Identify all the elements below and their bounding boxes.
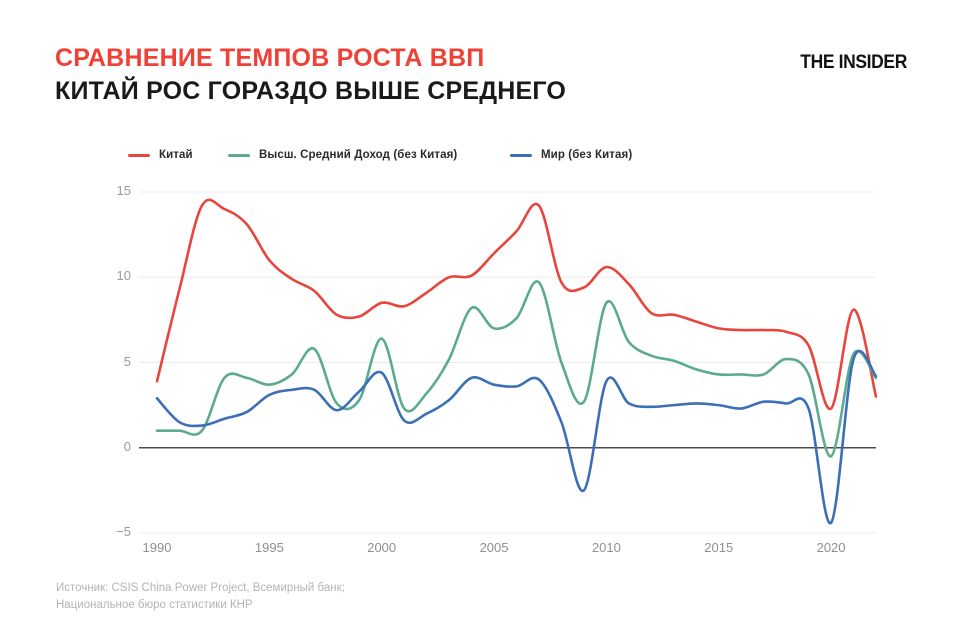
legend-swatch-upper-middle (228, 154, 250, 157)
legend-label-upper-middle: Высш. Средний Доход (без Китая) (259, 149, 457, 161)
legend-item-world: Мир (без Китая) (510, 146, 632, 164)
y-tick-label: 15 (91, 183, 131, 198)
y-tick-label: −5 (91, 524, 131, 539)
x-tick-label: 2005 (459, 540, 529, 555)
y-tick-label: 5 (91, 354, 131, 369)
source-note: Источник: CSIS China Power Project, Всем… (56, 580, 345, 613)
page-title-accent: СРАВНЕНИЕ ТЕМПОВ РОСТА ВВП (55, 44, 566, 74)
x-tick-label: 2015 (684, 540, 754, 555)
page-title-sub: КИТАЙ РОС ГОРАЗДО ВЫШЕ СРЕДНЕГО (55, 77, 566, 107)
legend-item-china: Китай (128, 146, 193, 164)
chart-page: СРАВНЕНИЕ ТЕМПОВ РОСТА ВВП КИТАЙ РОС ГОР… (0, 0, 959, 638)
x-tick-label: 2020 (796, 540, 866, 555)
source-line-1: Источник: CSIS China Power Project, Всем… (56, 580, 345, 597)
y-tick-label: 0 (91, 439, 131, 454)
y-tick-label: 10 (91, 268, 131, 283)
header: СРАВНЕНИЕ ТЕМПОВ РОСТА ВВП КИТАЙ РОС ГОР… (0, 0, 959, 120)
series-line-1 (157, 281, 876, 456)
source-line-2: Национальное бюро статистики КНР (56, 597, 345, 614)
brand-logo: THE INSIDER (800, 52, 907, 74)
legend-swatch-china (128, 154, 150, 157)
legend-label-china: Китай (159, 149, 193, 161)
legend-label-world: Мир (без Китая) (541, 149, 632, 161)
title-block: СРАВНЕНИЕ ТЕМПОВ РОСТА ВВП КИТАЙ РОС ГОР… (55, 44, 566, 106)
legend-item-upper-middle: Высш. Средний Доход (без Китая) (228, 146, 457, 164)
series-line-0 (157, 200, 876, 409)
x-tick-label: 1990 (122, 540, 192, 555)
series-line-2 (157, 351, 876, 523)
chart-legend: Китай Высш. Средний Доход (без Китая) Ми… (128, 146, 868, 164)
legend-swatch-world (510, 154, 532, 157)
x-tick-label: 1995 (234, 540, 304, 555)
x-tick-label: 2000 (347, 540, 417, 555)
x-tick-label: 2010 (571, 540, 641, 555)
